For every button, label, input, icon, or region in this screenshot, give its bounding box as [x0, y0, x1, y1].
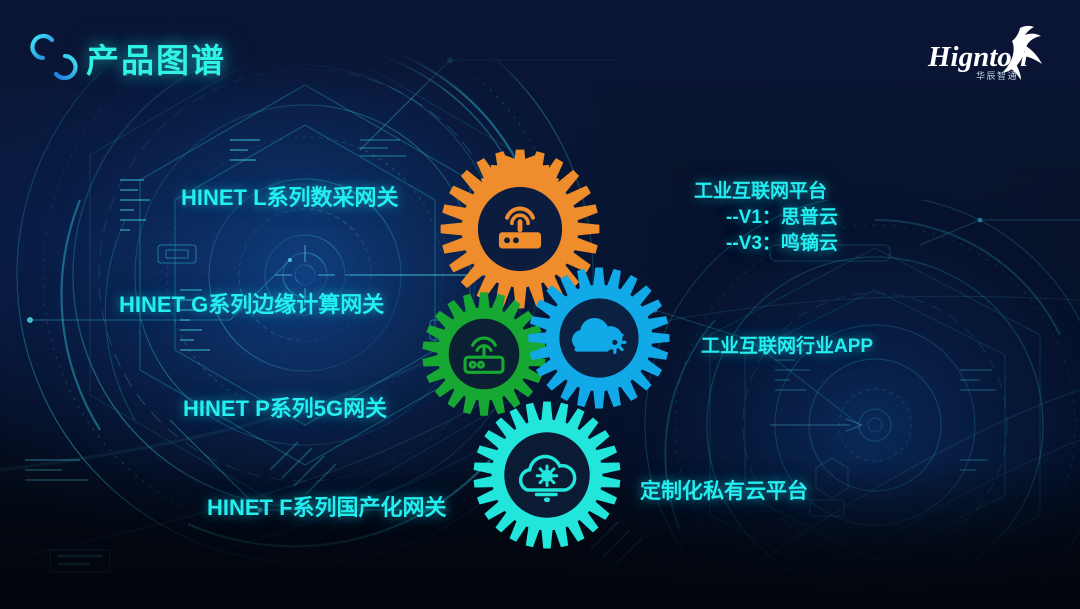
page-title: 产品图谱 [86, 34, 226, 82]
brand-logo-hignton: Hignton 华辰智通 [922, 22, 1054, 84]
label-industrial-platform-title: 工业互联网平台 [694, 181, 827, 202]
label-hinet-l-series: HINET L系列数采网关 [181, 180, 399, 212]
label-hinet-f-series: HINET F系列国产化网关 [207, 490, 447, 522]
label-industrial-platform-group: 工业互联网平台 --V1：思普云 --V3：鸣镝云 [694, 179, 838, 257]
gear-blue-cloud [527, 266, 671, 410]
brand-wordmark: Hignton [927, 41, 1028, 73]
two-circles-logo-icon [30, 33, 78, 81]
label-hinet-g-series: HINET G系列边缘计算网关 [119, 287, 384, 319]
label-hinet-p-series: HINET P系列5G网关 [183, 391, 387, 423]
slide-canvas: 产品图谱 Hignton 华辰智通 [0, 0, 1080, 609]
gear-cyan-cloud [472, 400, 622, 550]
label-private-cloud-platform: 定制化私有云平台 [640, 475, 808, 505]
brand-chinese-name: 华辰智通 [976, 70, 1018, 81]
label-platform-v3: --V3：鸣镝云 [694, 231, 838, 257]
label-platform-v1: --V1：思普云 [694, 205, 838, 231]
label-industrial-app: 工业互联网行业APP [701, 331, 873, 358]
